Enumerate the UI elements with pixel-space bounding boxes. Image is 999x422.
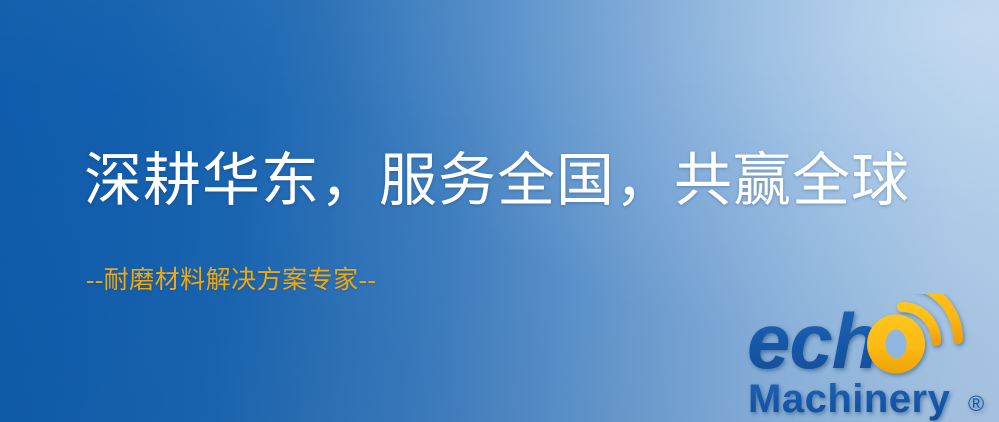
logo-wordmark-blue: ech <box>747 297 878 385</box>
logo-tagline: Machinery <box>748 377 951 421</box>
banner-headline: 深耕华东，服务全国，共赢全球 <box>84 152 910 210</box>
hero-banner: 深耕华东，服务全国，共赢全球 --耐磨材料解决方案专家-- <box>0 0 999 422</box>
logo-registered-mark: ® <box>968 391 984 416</box>
banner-subheadline: --耐磨材料解决方案专家-- <box>86 268 376 293</box>
echo-machinery-logo[interactable]: ech Machinery ® <box>746 294 999 422</box>
logo-wordmark-gold-o <box>867 315 925 374</box>
